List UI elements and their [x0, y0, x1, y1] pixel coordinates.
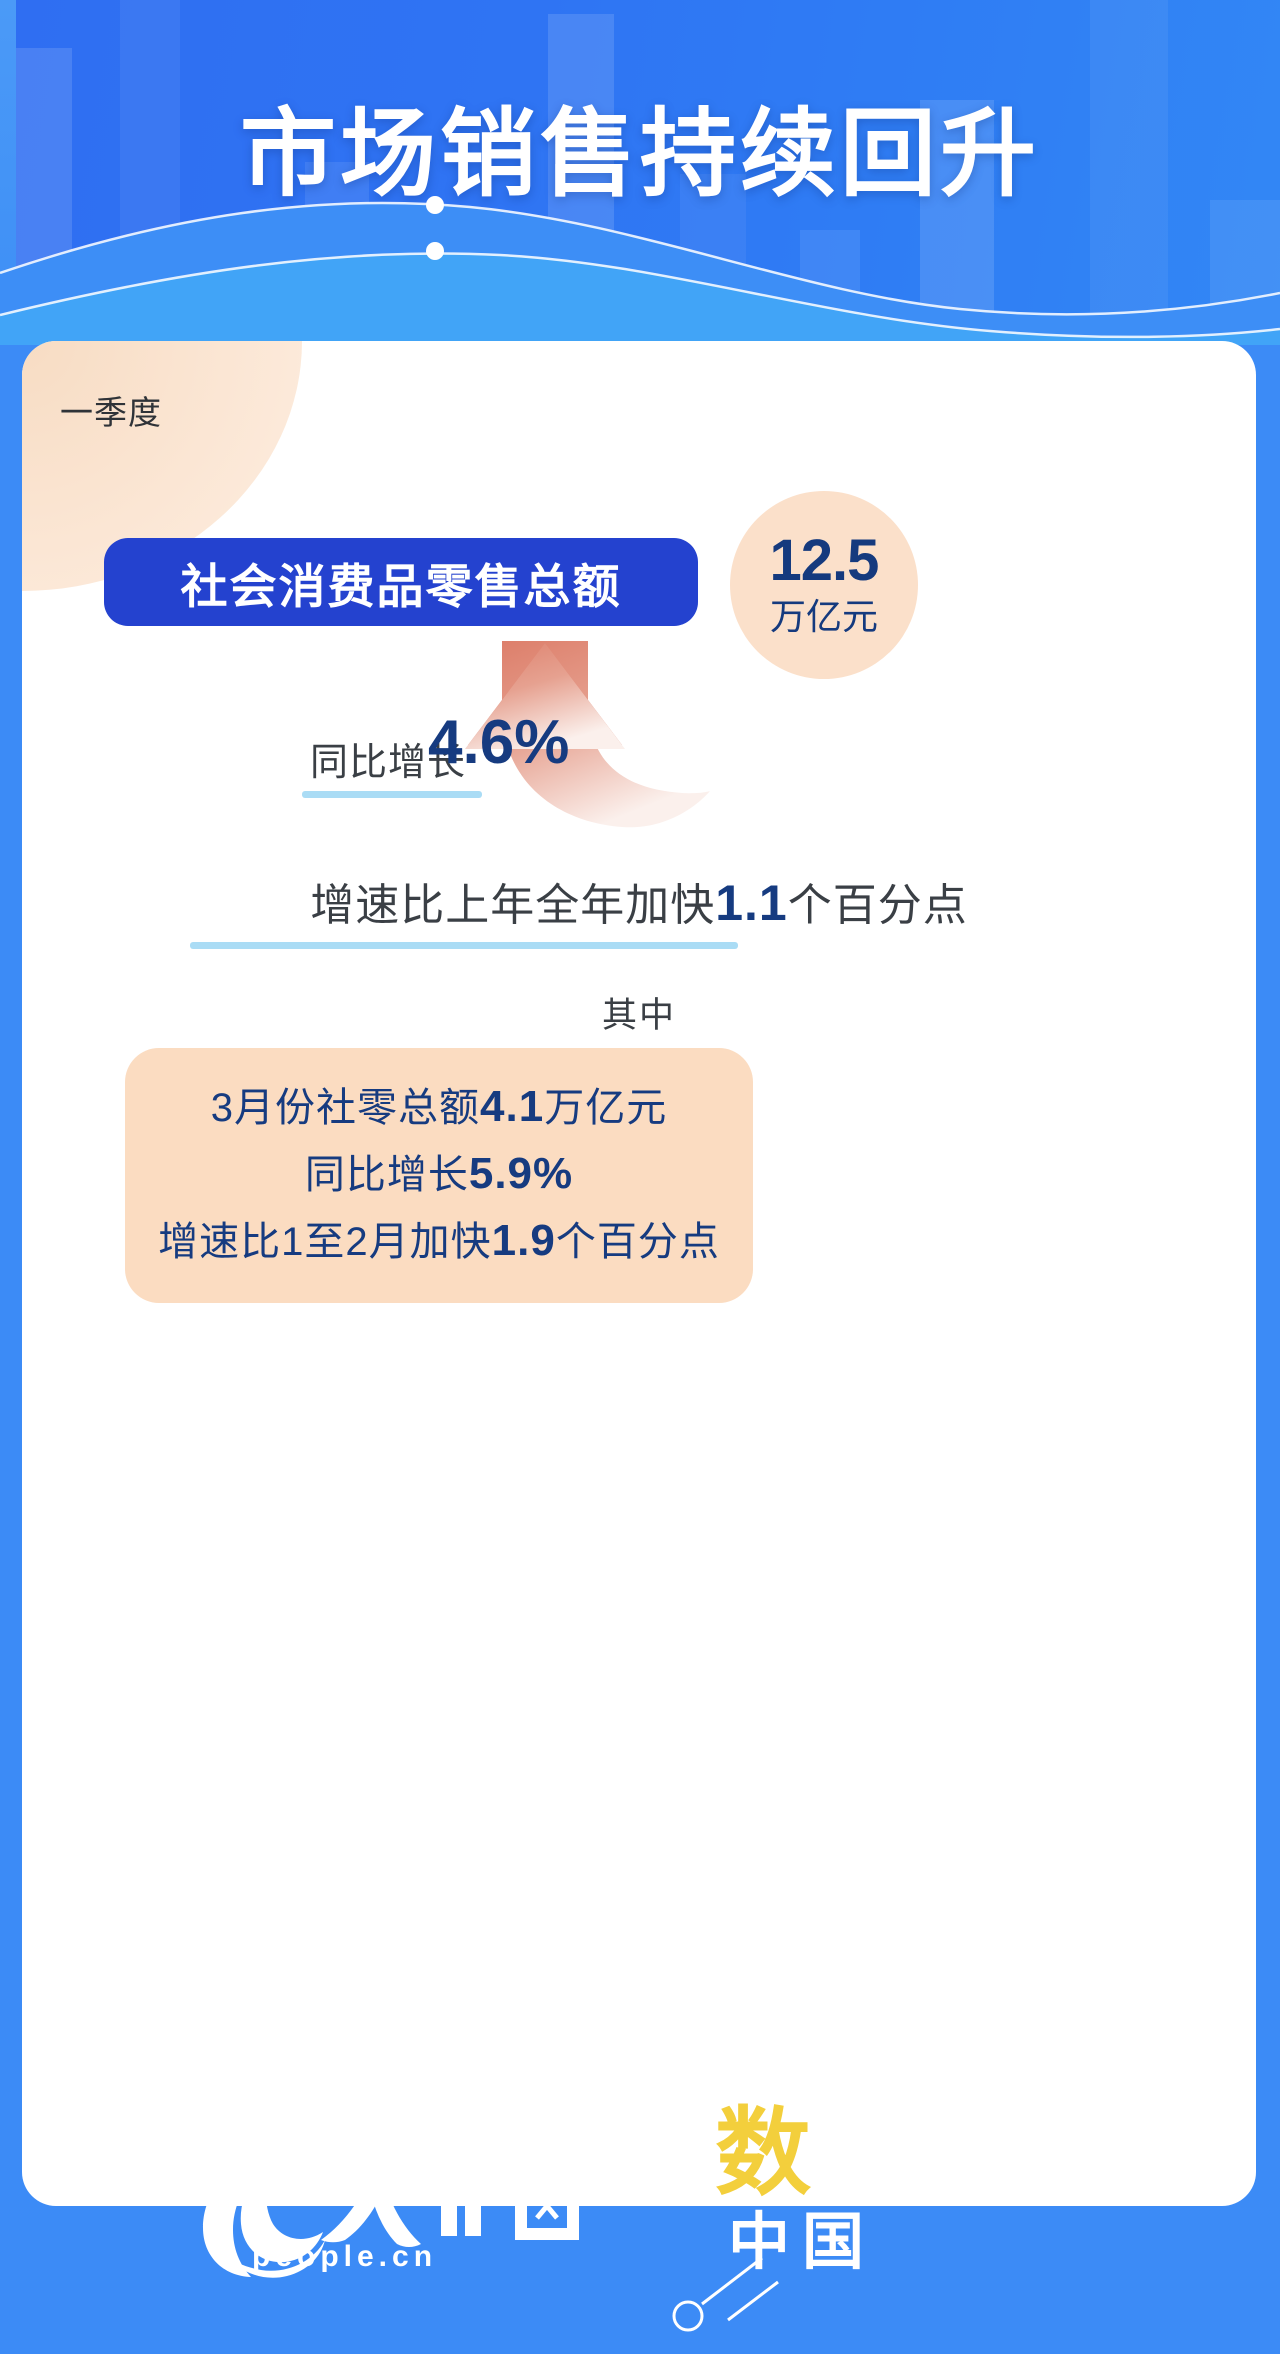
detail-line: 3月份社零总额4.1万亿元: [125, 1074, 753, 1141]
wave-dot-lower: [426, 242, 444, 260]
detail-line-suffix: 个百分点: [556, 1220, 720, 1264]
content-card: 一季度 社会消费品零售总额 12.5 万亿元: [22, 341, 1256, 2206]
infographic-page: 市场销售持续回升 一季度 社会消费品零售总额 12.5 万亿元: [0, 0, 1280, 2354]
logo-domain: people.cn: [252, 2240, 437, 2274]
detail-line-value: 1.9: [492, 1216, 556, 1265]
metric-unit: 万亿元: [770, 594, 878, 639]
metric-value: 12.5: [770, 532, 879, 590]
metric-pill-label: 社会消费品零售总额: [104, 538, 698, 626]
growth-row: 同比增长 4.6%: [22, 641, 1256, 831]
detail-line: 增速比1至2月加快1.9个百分点: [125, 1208, 753, 1275]
detail-line-suffix: 万亿元: [544, 1086, 667, 1130]
detail-line-prefix: 增速比1至2月加快: [158, 1220, 492, 1264]
detail-line-prefix: 3月份社零总额: [211, 1086, 480, 1130]
detail-box: 3月份社零总额4.1万亿元 同比增长5.9% 增速比1至2月加快1.9个百分点: [125, 1048, 753, 1303]
growth-underline: [302, 791, 482, 798]
detail-line-prefix: 同比增长: [305, 1153, 469, 1197]
growth-value: 4.6%: [428, 707, 569, 778]
speed-note-prefix: 增速比上年全年加快: [310, 881, 715, 930]
speed-note-suffix: 个百分点: [788, 881, 968, 930]
detail-line-value: 5.9%: [469, 1149, 573, 1198]
brand-decoration-lines: [640, 2108, 980, 2354]
quarter-label: 一季度: [60, 386, 162, 434]
header-wave-decoration: [0, 185, 1280, 345]
detail-line: 同比增长5.9%: [125, 1141, 753, 1208]
header-banner: 市场销售持续回升: [0, 0, 1280, 345]
speed-note: 增速比上年全年加快1.1个百分点: [22, 869, 1256, 933]
detail-line-value: 4.1: [480, 1082, 544, 1131]
speed-note-value: 1.1: [715, 875, 788, 931]
among-label: 其中: [22, 987, 1256, 1038]
speed-note-underline: [190, 942, 738, 949]
footer: people.cn 数 读 中国: [0, 2206, 1280, 2354]
wave-dot-upper: [426, 196, 444, 214]
